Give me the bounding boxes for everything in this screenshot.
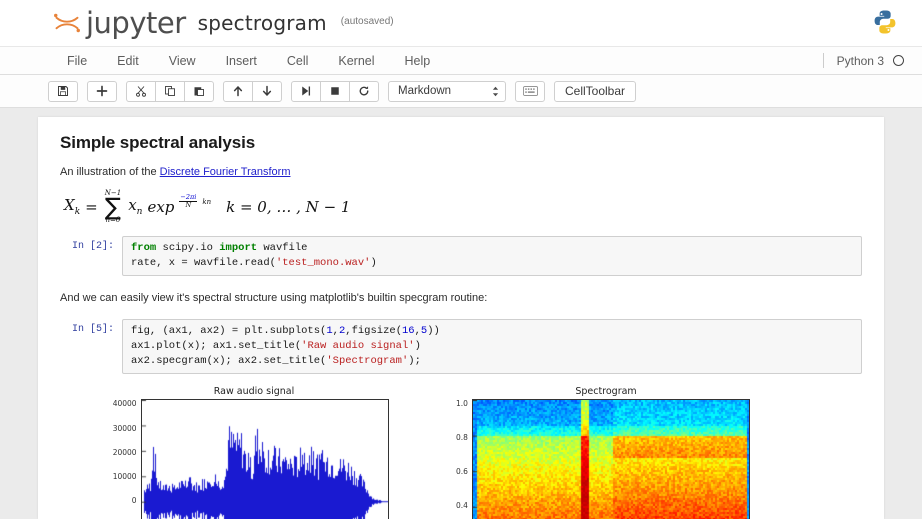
markdown-intro-text: An illustration of the — [60, 166, 160, 178]
move-cell-down-button[interactable] — [252, 81, 282, 102]
exponent-denominator: N — [186, 202, 192, 209]
markdown-intro: An illustration of the Discrete Fourier … — [60, 164, 862, 181]
toolbar-group-save — [48, 81, 78, 102]
chevron-updown-icon — [492, 86, 499, 97]
toolbar-group-run — [291, 81, 379, 102]
code-line: ax1.plot(x); ax1.set_title('Raw audio si… — [131, 339, 853, 354]
cell-type-value: Markdown — [398, 85, 451, 97]
notebook-page: Simple spectral analysis An illustration… — [38, 117, 884, 519]
interrupt-kernel-button[interactable] — [320, 81, 350, 102]
run-cell-button[interactable] — [291, 81, 321, 102]
cell-prompt: In [5]: — [60, 319, 122, 335]
cell-toolbar-button[interactable]: CellToolbar — [554, 81, 636, 102]
kernel-name-label[interactable]: Python 3 — [837, 54, 884, 68]
menu-item-help[interactable]: Help — [390, 50, 446, 72]
menu-item-file[interactable]: File — [52, 50, 102, 72]
jupyter-logo-group[interactable]: jupyter — [52, 8, 186, 38]
sigma-icon: ∑ — [105, 197, 121, 217]
kernel-divider — [823, 53, 824, 68]
code-line: ax2.specgram(x); ax2.set_title('Spectrog… — [131, 354, 853, 369]
plot-title: Spectrogram — [456, 386, 756, 397]
y-tick-label: 20000 — [110, 448, 137, 457]
y-tick-label: 30000 — [110, 424, 137, 433]
y-tick-label: 0.4 — [456, 501, 468, 510]
jupyter-notebook-app: jupyter spectrogram (autosaved) File Edi… — [0, 0, 922, 519]
move-cell-up-button[interactable] — [223, 81, 253, 102]
plot-axes-wrap: 400003000020000100000-10000-20000-30000 — [110, 399, 398, 519]
plot-axes — [472, 399, 750, 519]
cell-prompt: In [2]: — [60, 236, 122, 252]
summation-operator: N−1 ∑ n=0 — [105, 190, 121, 224]
sum-lower-limit: n=0 — [106, 217, 121, 224]
code-line: from scipy.io import wavfile — [131, 241, 853, 256]
plot-axes — [141, 399, 389, 519]
y-axis-ticks: 400003000020000100000-10000-20000-30000 — [110, 399, 141, 519]
formula-exp: exp — [147, 198, 174, 216]
kernel-status-area: Python 3 — [823, 47, 904, 74]
y-tick-label: 0.8 — [456, 433, 468, 442]
cell-output-area: Raw audio signal 400003000020000100000-1… — [62, 386, 862, 519]
insert-cell-button[interactable] — [87, 81, 117, 102]
menu-bar: File Edit View Insert Cell Kernel Help P… — [0, 46, 922, 75]
y-tick-label: 0 — [110, 496, 137, 505]
toolbar-group-edit — [126, 81, 214, 102]
python-logo-icon — [872, 8, 898, 36]
dft-link[interactable]: Discrete Fourier Transform — [160, 166, 291, 178]
restart-kernel-button[interactable] — [349, 81, 379, 102]
formula-exponent-fraction: −2πi N — [179, 194, 197, 209]
menu-item-edit[interactable]: Edit — [102, 50, 154, 72]
plot-title: Raw audio signal — [110, 386, 398, 397]
jupyter-wordmark: jupyter — [86, 9, 186, 38]
code-editor[interactable]: from scipy.io import wavfilerate, x = wa… — [122, 236, 862, 276]
code-line: fig, (ax1, ax2) = plt.subplots(1,2,figsi… — [131, 324, 853, 339]
kernel-idle-indicator-icon[interactable] — [893, 55, 904, 66]
cut-cell-button[interactable] — [126, 81, 156, 102]
markdown-specgram-note: And we can easily view it's spectral str… — [60, 290, 862, 307]
code-line: rate, x = wavfile.read('test_mono.wav') — [131, 256, 853, 271]
menu-item-view[interactable]: View — [154, 50, 211, 72]
raw-audio-signal-plot: Raw audio signal 400003000020000100000-1… — [110, 386, 398, 519]
spectrogram-canvas — [473, 400, 750, 519]
y-tick-label: 10000 — [110, 472, 137, 481]
copy-cell-button[interactable] — [155, 81, 185, 102]
autosave-status: (autosaved) — [341, 17, 394, 29]
paste-cell-button[interactable] — [184, 81, 214, 102]
dft-formula: Xk = N−1 ∑ n=0 xn exp −2πi N kn k = 0, …… — [64, 190, 862, 224]
notebook-name[interactable]: spectrogram — [198, 13, 327, 33]
menu-item-cell[interactable]: Cell — [272, 50, 324, 72]
spectrogram-plot: Spectrogram 1.00.80.60.40.20.0 — [456, 386, 756, 519]
formula-equals: = — [85, 198, 98, 216]
formula-lhs: Xk — [64, 196, 80, 217]
y-tick-label: 1.0 — [456, 399, 468, 408]
waveform-canvas — [142, 400, 389, 519]
code-cell-2[interactable]: In [5]: fig, (ax1, ax2) = plt.subplots(1… — [60, 319, 862, 375]
markdown-heading: Simple spectral analysis — [60, 133, 862, 153]
menu-item-insert[interactable]: Insert — [211, 50, 272, 72]
code-editor[interactable]: fig, (ax1, ax2) = plt.subplots(1,2,figsi… — [122, 319, 862, 375]
jupyter-logo-icon — [52, 8, 82, 38]
notebook-header: jupyter spectrogram (autosaved) — [0, 0, 922, 46]
notebook-toolbar: Markdown CellToolbar — [0, 75, 922, 108]
formula-exponent-tail: kn — [202, 198, 211, 206]
y-tick-label: 40000 — [110, 399, 137, 408]
menu-item-kernel[interactable]: Kernel — [323, 50, 389, 72]
formula-range: k = 0, … , N − 1 — [226, 198, 350, 216]
plot-axes-wrap: 1.00.80.60.40.20.0 — [456, 399, 756, 519]
save-button[interactable] — [48, 81, 78, 102]
toolbar-group-insert — [87, 81, 117, 102]
notebook-scroll-area[interactable]: Simple spectral analysis An illustration… — [0, 108, 922, 519]
cell-type-select[interactable]: Markdown — [388, 81, 506, 102]
y-axis-ticks: 1.00.80.60.40.20.0 — [456, 399, 472, 519]
y-tick-label: 0.6 — [456, 467, 468, 476]
toolbar-group-palette — [515, 81, 545, 102]
toolbar-group-move — [223, 81, 282, 102]
code-cell-1[interactable]: In [2]: from scipy.io import wavfilerate… — [60, 236, 862, 276]
command-palette-button[interactable] — [515, 81, 545, 102]
formula-term: xn — [128, 196, 142, 217]
